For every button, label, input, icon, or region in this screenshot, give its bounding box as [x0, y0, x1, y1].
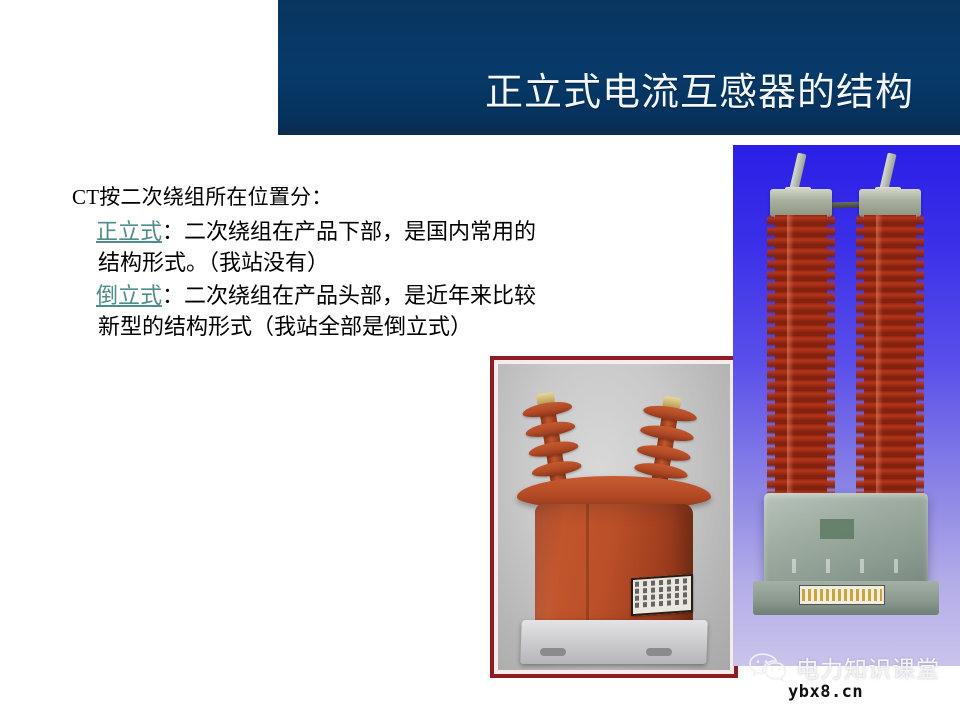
bushing-skirt — [531, 458, 582, 479]
photo-inverted-ct — [733, 145, 960, 666]
bushing-skirt — [525, 419, 576, 440]
term-label-inverted: 倒立式 — [96, 283, 162, 308]
nameplate-row — [635, 599, 689, 608]
photo-upright-ct-canvas — [498, 364, 730, 670]
secondary-terminal-strip — [799, 585, 885, 605]
slide-title-bar: 正立式电流互感器的结构 — [278, 0, 960, 135]
content-text-block: CT按二次绕组所在位置分： 正立式：二次绕组在产品下部，是国内常用的结构形式。（… — [72, 183, 552, 344]
watermark-label: 电力知识课堂 — [796, 650, 940, 684]
term-separator: ： — [162, 219, 184, 244]
photo-upright-ct — [490, 356, 738, 678]
page-title: 正立式电流互感器的结构 — [485, 73, 914, 111]
bushing-skirt — [522, 399, 573, 420]
bushing-skirt — [528, 439, 579, 460]
bushing-skirt — [639, 422, 694, 443]
insulator-highlight — [876, 215, 883, 515]
insulator-highlight — [787, 215, 794, 515]
base-mounting-slot — [540, 648, 566, 656]
tank-rib — [792, 559, 796, 573]
site-tag: ybx8.cn — [788, 682, 863, 702]
content-lead-line: CT按二次绕组所在位置分： — [72, 183, 552, 213]
secondary-winding-tank — [764, 493, 928, 589]
insulator-column-right — [864, 215, 916, 515]
ct-base-plate — [520, 620, 707, 664]
tank-rib — [894, 559, 898, 573]
insulator-column-left — [775, 215, 827, 515]
watermark: 电力知识课堂 — [748, 650, 940, 684]
ct-nameplate — [631, 574, 693, 616]
head-housing-left — [770, 189, 832, 217]
wechat-icon — [748, 651, 788, 683]
bushing-skirt — [643, 403, 698, 424]
term-separator: ： — [162, 283, 184, 308]
bushing-right — [651, 404, 679, 486]
tank-rib — [860, 559, 864, 573]
list-item: 正立式：二次绕组在产品下部，是国内常用的结构形式。（我站没有） — [72, 216, 552, 279]
tank-label-plate — [820, 519, 854, 539]
term-label-upright: 正立式 — [96, 219, 162, 244]
list-item: 倒立式：二次绕组在产品头部，是近年来比较新型的结构形式（我站全部是倒立式） — [72, 280, 552, 343]
bushing-left — [538, 400, 567, 485]
base-mounting-slot — [646, 648, 672, 656]
bushing-skirt — [636, 442, 691, 463]
head-housing-right — [859, 189, 921, 217]
tank-rib — [826, 559, 830, 573]
